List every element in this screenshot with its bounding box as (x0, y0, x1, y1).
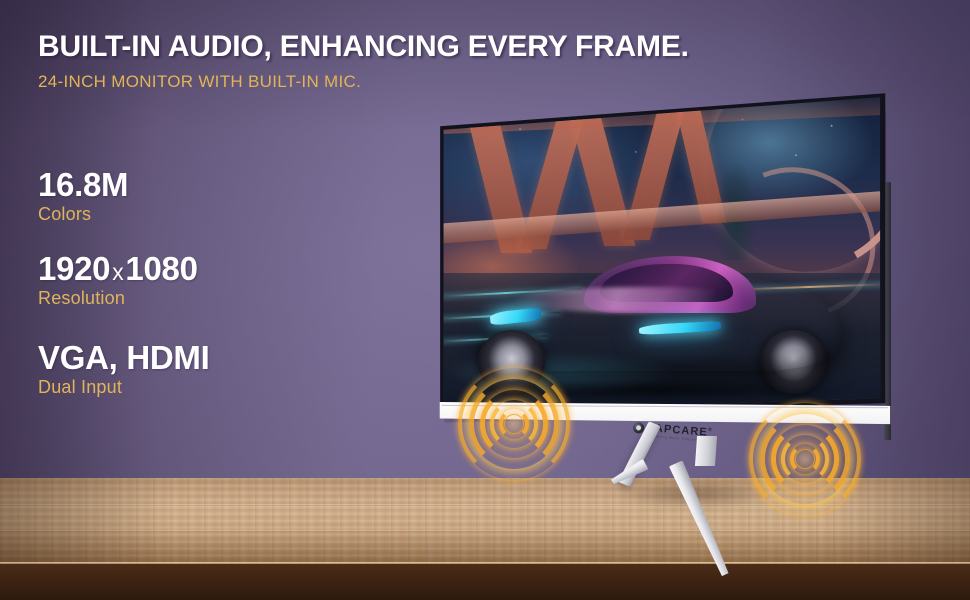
spec-label-colors: Colors (38, 204, 128, 225)
spec-block-colors: 16.8M Colors (38, 168, 128, 225)
sound-wave-icon-left (513, 423, 514, 424)
sound-core (795, 449, 815, 469)
resolution-width: 1920 (38, 250, 110, 287)
table-shadow-left (0, 478, 170, 564)
monitor-stand-neck (695, 436, 717, 466)
sound-core (504, 414, 524, 434)
table-front-edge (0, 564, 970, 600)
registered-trademark-icon: ® (708, 427, 713, 433)
product-banner: BUILT-IN AUDIO, ENHANCING EVERY FRAME. 2… (0, 0, 970, 600)
spec-block-input: VGA, HDMI Dual Input (38, 341, 209, 398)
resolution-multiplier: x (110, 259, 125, 285)
page-title: BUILT-IN AUDIO, ENHANCING EVERY FRAME. (38, 30, 689, 64)
resolution-height: 1080 (125, 250, 197, 287)
sound-wave-icon-right (804, 458, 805, 459)
spec-block-resolution: 1920x1080 Resolution (38, 252, 198, 309)
spec-label-resolution: Resolution (38, 288, 198, 309)
spec-value-input: VGA, HDMI (38, 341, 209, 376)
spec-value-colors: 16.8M (38, 168, 128, 203)
page-subtitle: 24-INCH MONITOR WITH BUILT-IN MIC. (38, 72, 361, 92)
spec-label-input: Dual Input (38, 377, 209, 398)
spec-value-resolution: 1920x1080 (38, 252, 198, 287)
